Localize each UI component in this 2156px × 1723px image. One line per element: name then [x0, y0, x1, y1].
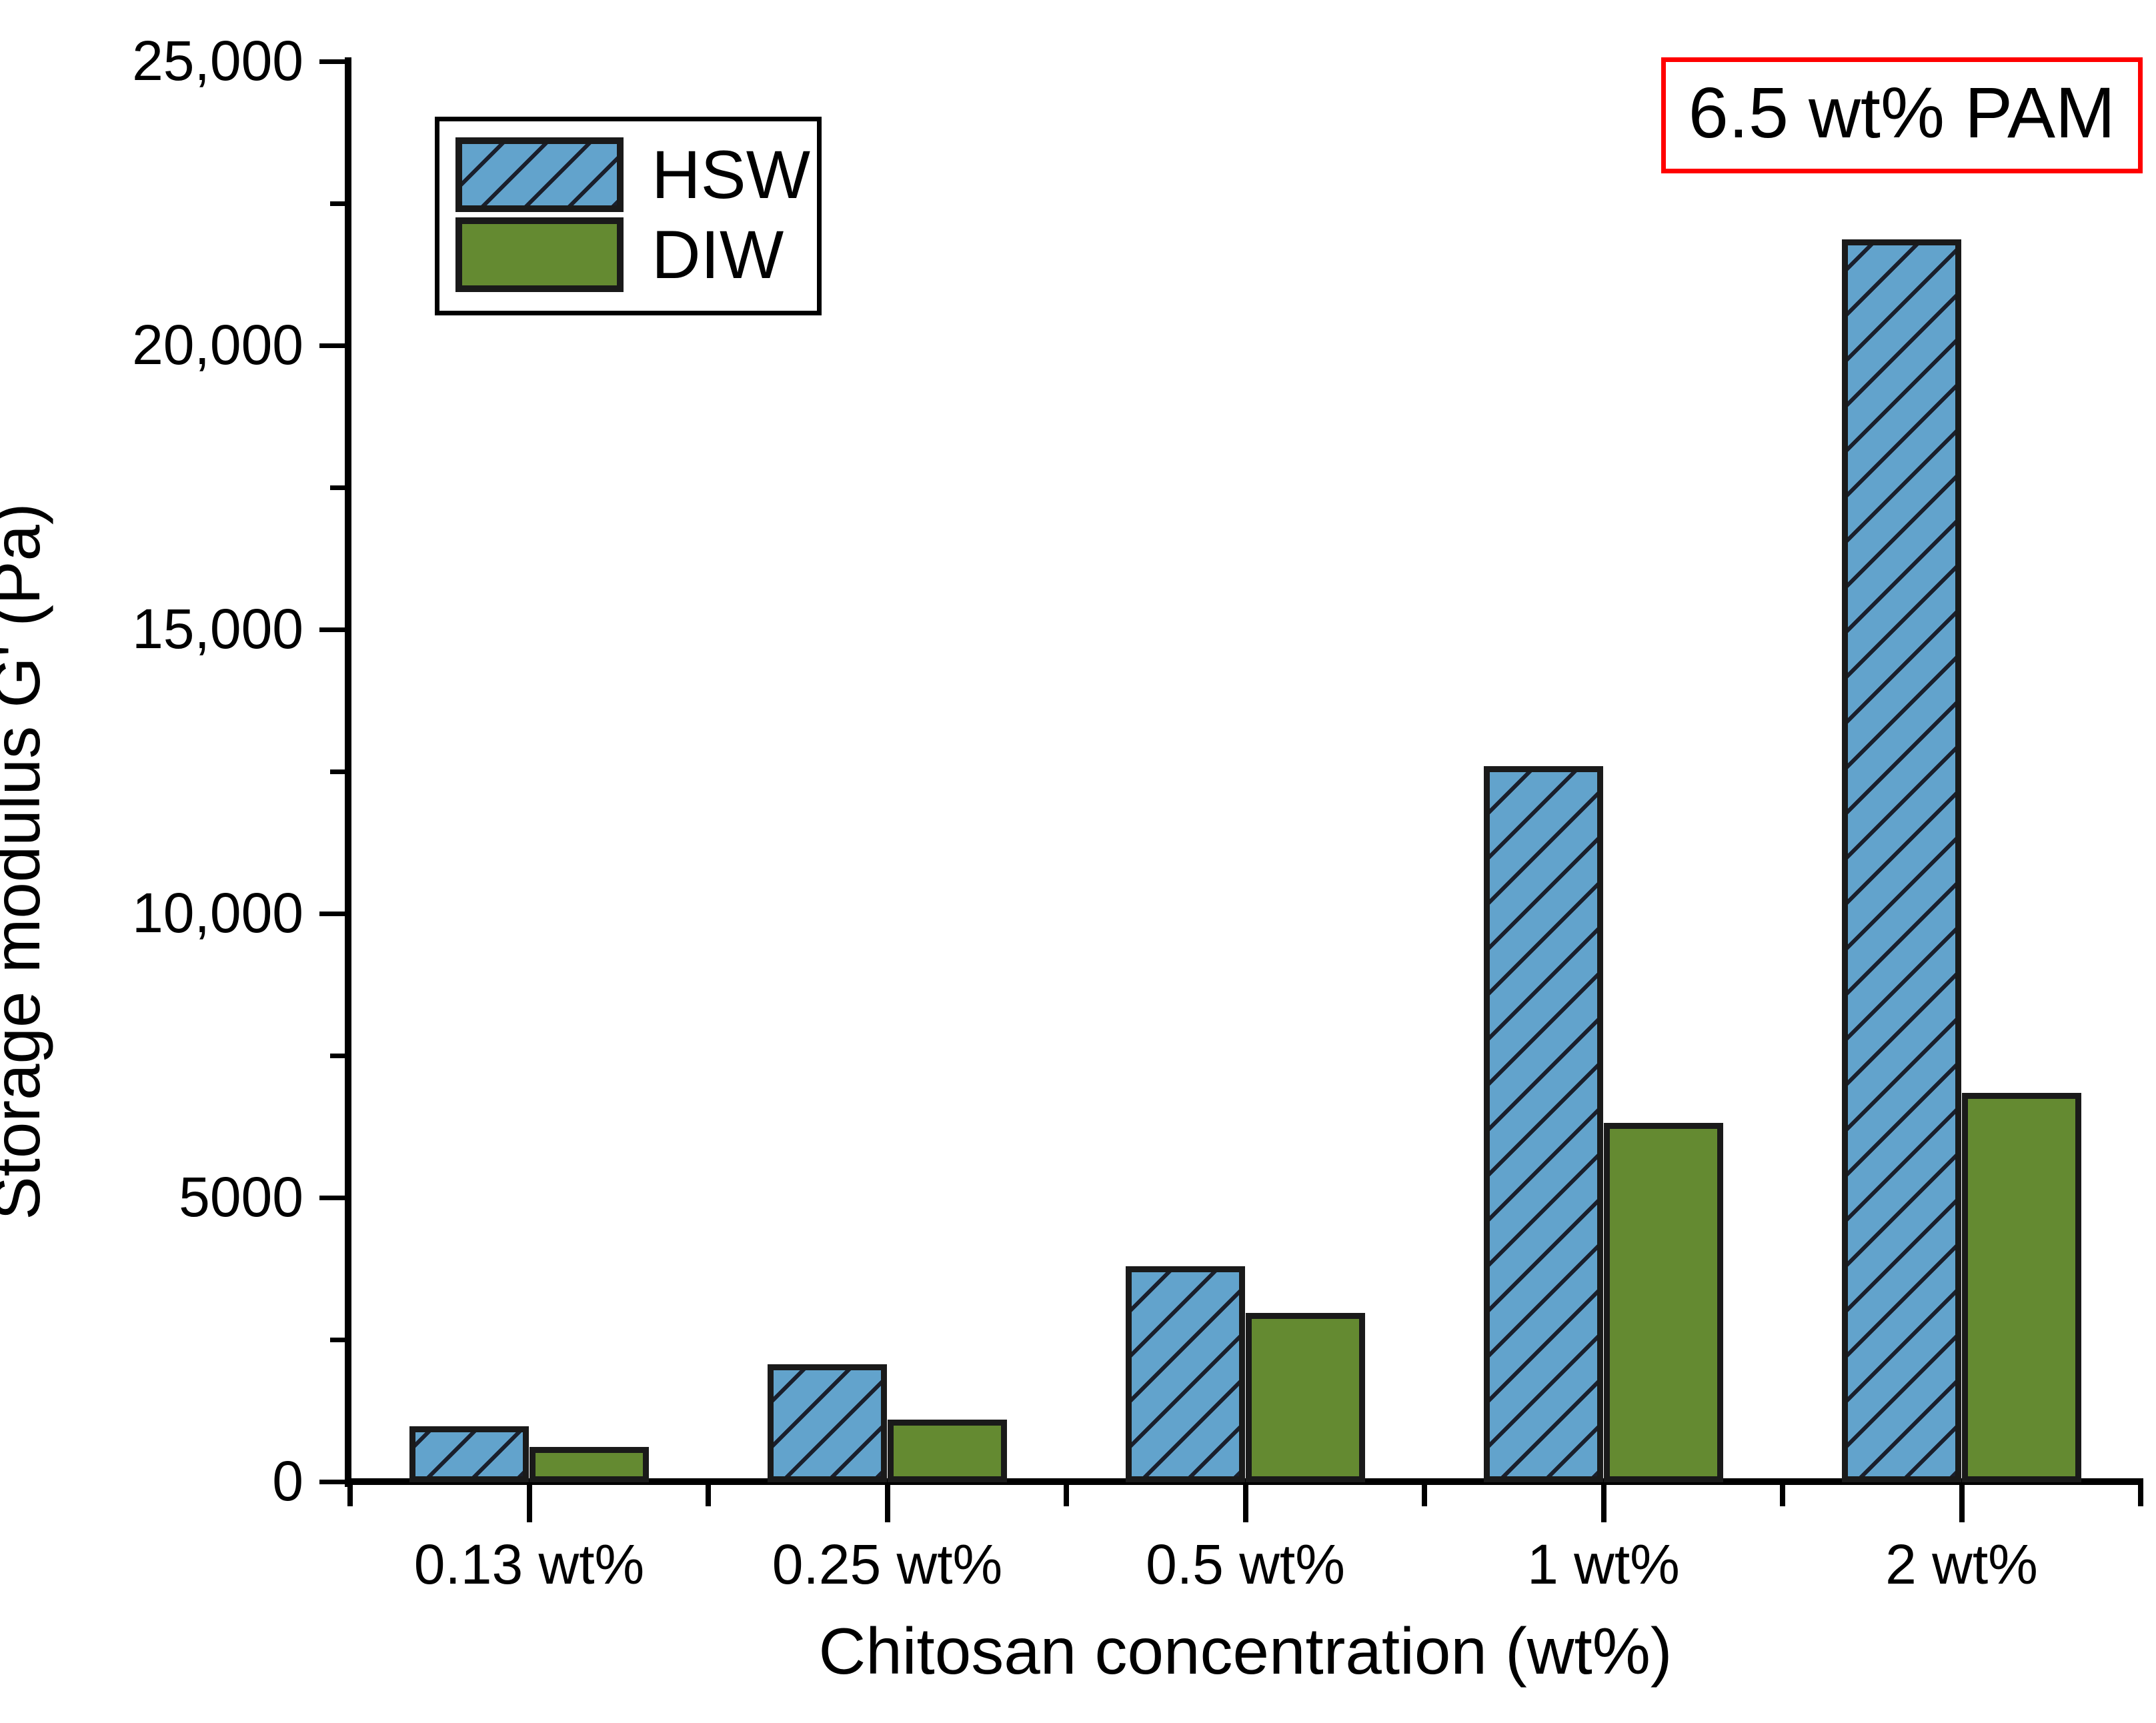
legend-label-hsw: HSW [652, 141, 810, 209]
y-tick-major [319, 912, 347, 916]
x-axis-title: Chitosan concentration (wt%) [350, 1614, 2141, 1689]
bar-hsw-0 [409, 1426, 529, 1482]
y-tick-label: 15,000 [0, 601, 303, 657]
y-tick-label: 10,000 [0, 885, 303, 941]
x-tick-minor [1422, 1485, 1427, 1506]
y-tick-label: 0 [0, 1453, 303, 1509]
y-tick-major [319, 1480, 347, 1484]
y-tick-label: 5000 [0, 1169, 303, 1225]
y-tick-major [319, 627, 347, 632]
legend-item-diw[interactable]: DIW [455, 215, 801, 295]
bar-diw-4 [1962, 1093, 2082, 1482]
chart-legend: HSW DIW [435, 117, 822, 315]
bar-hsw-4 [1842, 239, 1962, 1482]
x-tick-label: 0.5 wt% [1066, 1534, 1424, 1595]
x-tick-major [885, 1485, 890, 1522]
x-tick-minor [1064, 1485, 1069, 1506]
y-tick-minor [330, 485, 347, 490]
x-tick-label: 0.25 wt% [708, 1534, 1066, 1595]
y-tick-label: 25,000 [0, 33, 303, 89]
bar-hsw-2 [1126, 1266, 1246, 1482]
y-tick-minor [330, 1338, 347, 1342]
bar-hsw-1 [768, 1364, 888, 1482]
y-tick-minor [330, 769, 347, 774]
chart-figure: Storage modulus G' (Pa) 0500010,00015,00… [0, 0, 2156, 1723]
x-tick-label: 2 wt% [1783, 1534, 2141, 1595]
legend-item-hsw[interactable]: HSW [455, 135, 801, 215]
legend-label-diw: DIW [652, 221, 784, 289]
bar-hsw-3 [1484, 766, 1604, 1482]
y-tick-minor [330, 1054, 347, 1058]
y-tick-major [319, 59, 347, 64]
bar-diw-0 [529, 1447, 650, 1482]
bar-diw-3 [1604, 1123, 1724, 1482]
legend-swatch-diw-icon [455, 217, 624, 292]
x-tick-major [1601, 1485, 1606, 1522]
y-tick-minor [330, 201, 347, 206]
x-tick-major [1959, 1485, 1965, 1522]
x-tick-label: 0.13 wt% [350, 1534, 708, 1595]
x-tick-minor [1780, 1485, 1785, 1506]
x-tick-minor [347, 1485, 353, 1506]
x-tick-label: 1 wt% [1424, 1534, 1783, 1595]
y-tick-major [319, 343, 347, 348]
bar-diw-2 [1246, 1313, 1366, 1482]
y-tick-label: 20,000 [0, 317, 303, 373]
x-tick-minor [2138, 1485, 2143, 1506]
x-tick-major [1243, 1485, 1248, 1522]
x-tick-major [527, 1485, 532, 1522]
y-tick-major [319, 1196, 347, 1200]
bar-diw-1 [888, 1420, 1008, 1482]
x-tick-minor [706, 1485, 711, 1506]
legend-swatch-hsw-icon [455, 137, 624, 212]
annotation-badge: 6.5 wt% PAM [1661, 57, 2143, 173]
